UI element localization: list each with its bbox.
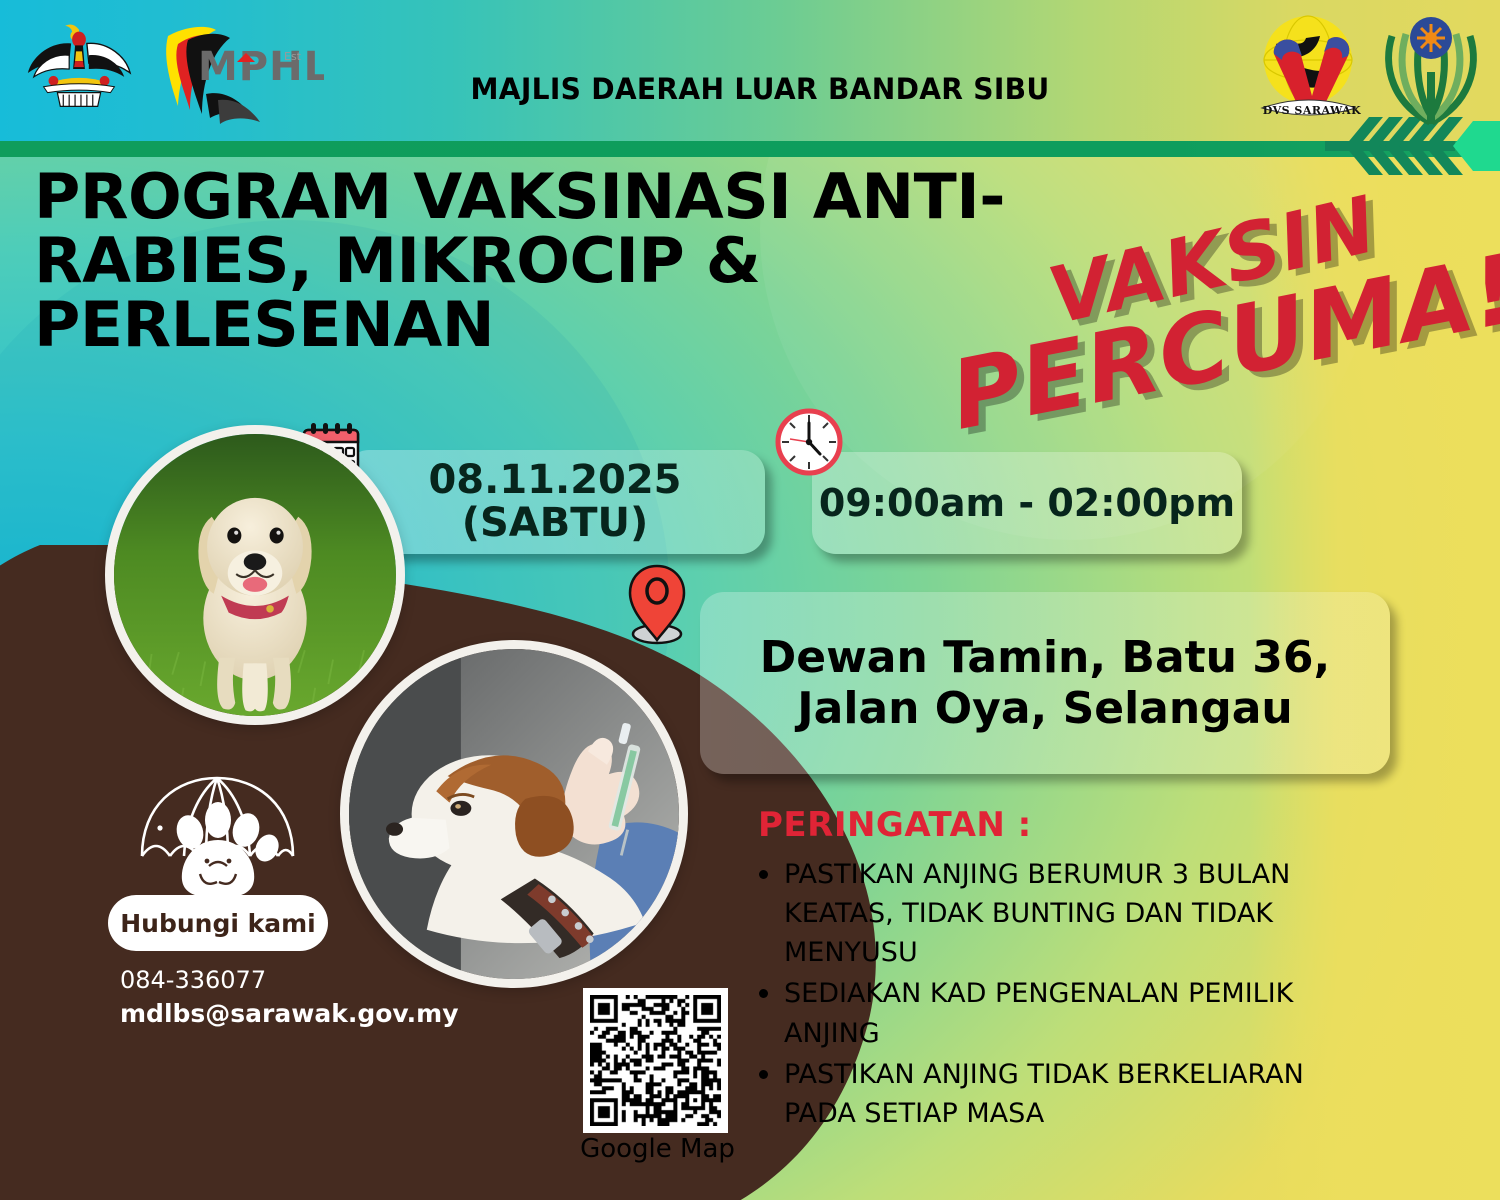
header-divider (0, 141, 1500, 157)
mphlg-logo: MPHLG Est (144, 18, 324, 126)
svg-text:DVS SARAWAK: DVS SARAWAK (1263, 104, 1362, 117)
event-time-pill: 09:00am - 02:00pm (812, 452, 1242, 554)
sarawak-crest-logo (20, 12, 138, 130)
jata-negara-logo (1376, 12, 1486, 130)
clock-icon (775, 408, 843, 476)
page-title-line-2: RABIES, MIKROCIP & (34, 229, 1054, 293)
page-title-line-1: PROGRAM VAKSINASI ANTI- (34, 165, 1054, 229)
event-day-value: (SABTU) (428, 502, 681, 545)
page-title: PROGRAM VAKSINASI ANTI- RABIES, MIKROCIP… (34, 165, 1034, 357)
page-title-line-3: PERLESENAN (34, 293, 1054, 357)
event-time-value: 09:00am - 02:00pm (819, 481, 1235, 525)
svg-text:MPHLG: MPHLG (198, 44, 324, 90)
svg-text:Est: Est (284, 50, 302, 63)
poster-root: MPHLG Est DVS SARAWAK (0, 0, 1500, 1200)
brown-shape-bottom-curve (0, 545, 880, 1200)
event-date-value: 08.11.2025 (428, 459, 681, 502)
header-organisation-title: MAJLIS DAERAH LUAR BANDAR SIBU (440, 72, 1080, 106)
event-date-pill: 08.11.2025 (SABTU) (345, 450, 765, 554)
dvs-sarawak-logo: DVS SARAWAK (1250, 10, 1375, 130)
